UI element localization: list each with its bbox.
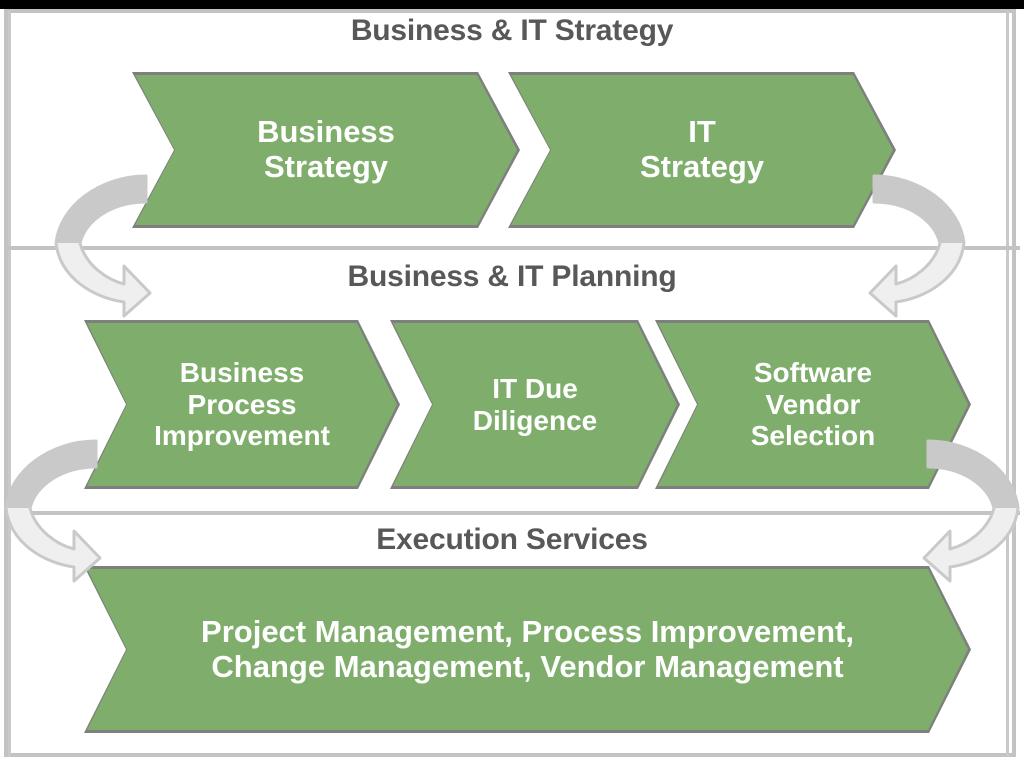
- step-label-line1: Project Management, Process Improvement,: [201, 614, 854, 649]
- step-label-it-strategy: IT Strategy: [508, 115, 896, 184]
- step-software-vendor-selection[interactable]: Software Vendor Selection: [655, 320, 971, 489]
- band-title-execution: Execution Services: [0, 524, 1024, 556]
- step-label-line2: Vendor: [766, 389, 861, 420]
- band-divider-strategy-planning: [4, 246, 1020, 250]
- step-label-line1: IT: [688, 114, 716, 149]
- right-vertical-rule: [1006, 11, 1009, 757]
- left-vertical-rule: [8, 11, 11, 757]
- step-label-line3: Improvement: [154, 420, 330, 451]
- step-label-business-strategy: Business Strategy: [132, 115, 520, 184]
- step-business-process-improvement[interactable]: Business Process Improvement: [84, 320, 400, 489]
- step-label-line2: Strategy: [640, 149, 764, 184]
- step-label-execution-services: Project Management, Process Improvement,…: [84, 615, 971, 684]
- step-execution-services[interactable]: Project Management, Process Improvement,…: [84, 566, 971, 733]
- step-it-strategy[interactable]: IT Strategy: [508, 72, 896, 228]
- band-title-planning: Business & IT Planning: [0, 261, 1024, 293]
- diagram-canvas: Business & IT Strategy Business Strategy…: [0, 0, 1024, 764]
- step-business-strategy[interactable]: Business Strategy: [132, 72, 520, 228]
- step-label-line1: Software: [754, 357, 872, 388]
- step-label-line3: Selection: [751, 420, 875, 451]
- step-label-line2: Diligence: [473, 405, 597, 436]
- step-label-line1: Business: [180, 357, 305, 388]
- step-label-it-due-diligence: IT Due Diligence: [390, 373, 680, 436]
- step-label-line2: Process: [188, 389, 297, 420]
- band-title-strategy: Business & IT Strategy: [0, 15, 1024, 47]
- step-label-business-process-improvement: Business Process Improvement: [84, 357, 400, 451]
- step-label-line1: IT Due: [492, 373, 578, 404]
- step-it-due-diligence[interactable]: IT Due Diligence: [390, 320, 680, 489]
- step-label-software-vendor-selection: Software Vendor Selection: [655, 357, 971, 451]
- step-label-line1: Business: [257, 114, 395, 149]
- band-divider-planning-execution: [4, 511, 1020, 515]
- top-black-strip: [0, 0, 1024, 9]
- step-label-line2: Change Management, Vendor Management: [211, 649, 843, 684]
- step-label-line2: Strategy: [264, 149, 388, 184]
